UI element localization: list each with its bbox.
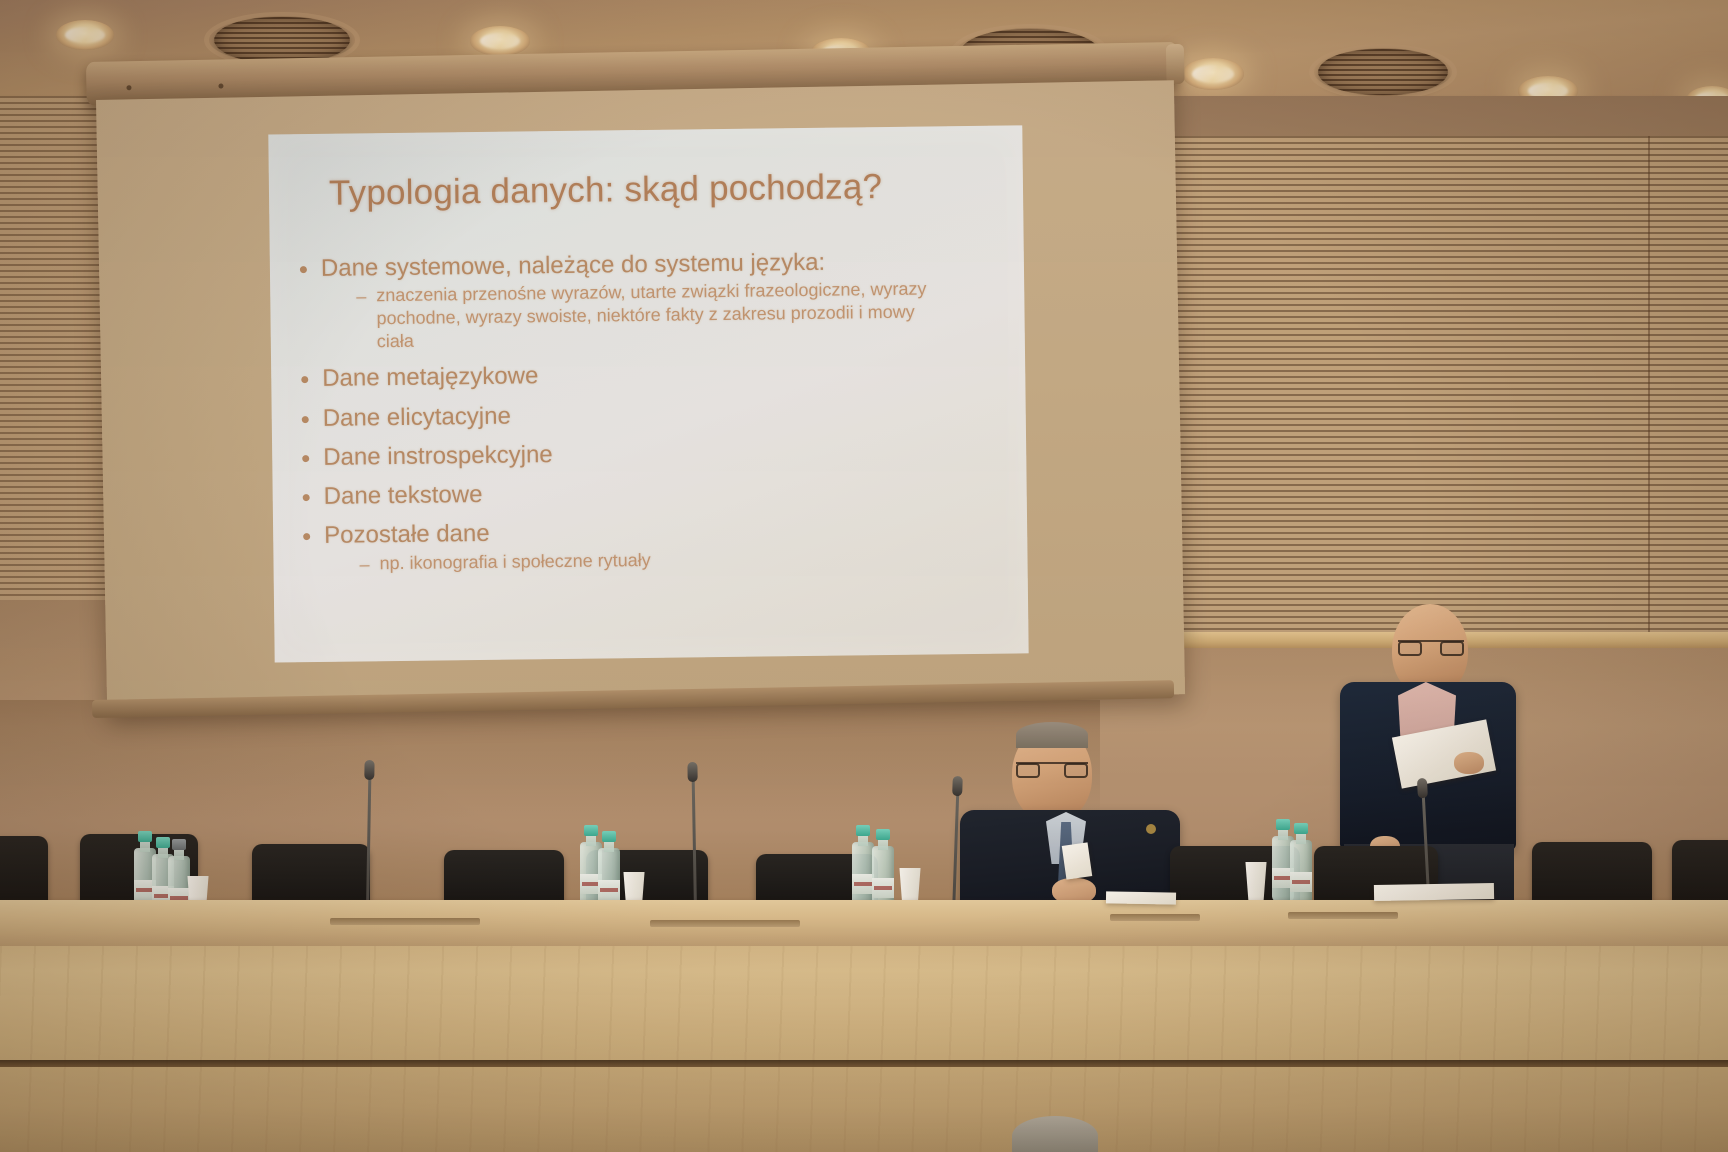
chair[interactable] xyxy=(252,844,370,906)
cable-slot xyxy=(650,920,800,927)
bottle-cap-icon xyxy=(138,831,152,842)
ceiling-vent-icon xyxy=(1318,48,1448,96)
microphone-head-icon xyxy=(364,760,374,780)
slide-bullet-label: Dane tekstowe xyxy=(324,480,483,511)
ceiling-downlight-icon xyxy=(1182,58,1244,90)
water-bottle[interactable] xyxy=(1290,824,1312,906)
hair xyxy=(1016,722,1088,748)
eyeglasses-icon xyxy=(1398,640,1464,652)
audience-head xyxy=(1012,1116,1098,1152)
slide-sub-bullet: – np. ikonografia i społeczne rytuały xyxy=(359,544,1003,576)
bullet-dot-icon xyxy=(302,416,309,423)
bottle-cap-icon xyxy=(876,829,890,840)
bullet-dot-icon xyxy=(303,533,310,540)
slide-bullet-label: Dane elicytacyjne xyxy=(323,401,511,433)
slide-bullet-label: Dane instrospekcyjne xyxy=(323,440,553,472)
conference-room-photo: Typologia danych: skąd pochodzą? Dane sy… xyxy=(0,0,1728,1152)
slide-bullet-label: Dane systemowe, należące do systemu języ… xyxy=(321,248,826,283)
microphone-head-icon xyxy=(952,776,963,796)
eyeglasses-icon xyxy=(1016,762,1088,774)
note-card xyxy=(1062,842,1092,879)
person-seated-panelist xyxy=(960,726,1180,916)
slide-bullet: Dane elicytacyjne xyxy=(302,395,1002,433)
presentation-slide: Typologia danych: skąd pochodzą? Dane sy… xyxy=(268,125,1028,662)
sub-bullet-dash-icon: – xyxy=(359,553,369,576)
bullet-dot-icon xyxy=(303,494,310,501)
cable-slot xyxy=(1110,914,1200,921)
bottle-cap-icon xyxy=(1276,819,1290,830)
bullet-dot-icon xyxy=(300,266,307,273)
conference-table-top xyxy=(0,900,1728,948)
slide-sub-bullet-label: np. ikonografia i społeczne rytuały xyxy=(379,549,650,575)
bullet-dot-icon xyxy=(301,376,308,383)
slide-bullet-list: Dane systemowe, należące do systemu języ… xyxy=(300,236,1004,583)
sub-bullet-dash-icon: – xyxy=(356,286,366,309)
water-bottle[interactable] xyxy=(852,826,874,908)
bottle-cap-icon xyxy=(172,839,186,850)
bottle-cap-icon xyxy=(602,831,616,842)
microphone-head-icon xyxy=(1417,778,1428,798)
cable-slot xyxy=(1288,912,1398,919)
slatted-panel-right xyxy=(1164,136,1728,636)
desk-papers[interactable] xyxy=(1106,891,1176,904)
ceiling-downlight-icon xyxy=(470,26,530,56)
slide-bullet: Dane instrospekcyjne xyxy=(302,434,1002,472)
chair[interactable] xyxy=(0,836,48,906)
chair[interactable] xyxy=(444,850,564,906)
hand xyxy=(1454,752,1484,774)
housing-screw-icon xyxy=(126,85,131,90)
projection-screen: Typologia danych: skąd pochodzą? Dane sy… xyxy=(96,80,1185,714)
desk-papers[interactable] xyxy=(1374,883,1494,901)
lapel-pin-icon xyxy=(1146,824,1156,834)
table-groove xyxy=(0,1060,1728,1067)
slide-bullet-label: Pozostałe dane xyxy=(324,519,490,550)
ceiling-downlight-icon xyxy=(56,20,114,50)
housing-screw-icon xyxy=(218,83,223,88)
microphone-head-icon xyxy=(687,762,697,782)
slide-bullet: Dane metajęzykowe xyxy=(301,356,1001,394)
chair[interactable] xyxy=(1672,840,1728,906)
bullet-dot-icon xyxy=(302,455,309,462)
slide-bullet-label: Dane metajęzykowe xyxy=(322,362,538,394)
slide-title: Typologia danych: skąd pochodzą? xyxy=(329,166,989,214)
slide-sub-bullet: – znaczenia przenośne wyrazów, utarte zw… xyxy=(356,277,1001,354)
wall-shadow xyxy=(0,700,1100,820)
bottle-cap-icon xyxy=(584,825,598,836)
bottle-cap-icon xyxy=(1294,823,1308,834)
housing-end-cap xyxy=(1166,44,1185,84)
conference-table-front xyxy=(0,946,1728,1152)
slide-bullet: Dane tekstowe xyxy=(303,474,1003,512)
bottle-cap-icon xyxy=(856,825,870,836)
cable-slot xyxy=(330,918,480,925)
chair[interactable] xyxy=(1532,842,1652,906)
slide-sub-bullet-label: znaczenia przenośne wyrazów, utarte zwią… xyxy=(376,278,937,354)
